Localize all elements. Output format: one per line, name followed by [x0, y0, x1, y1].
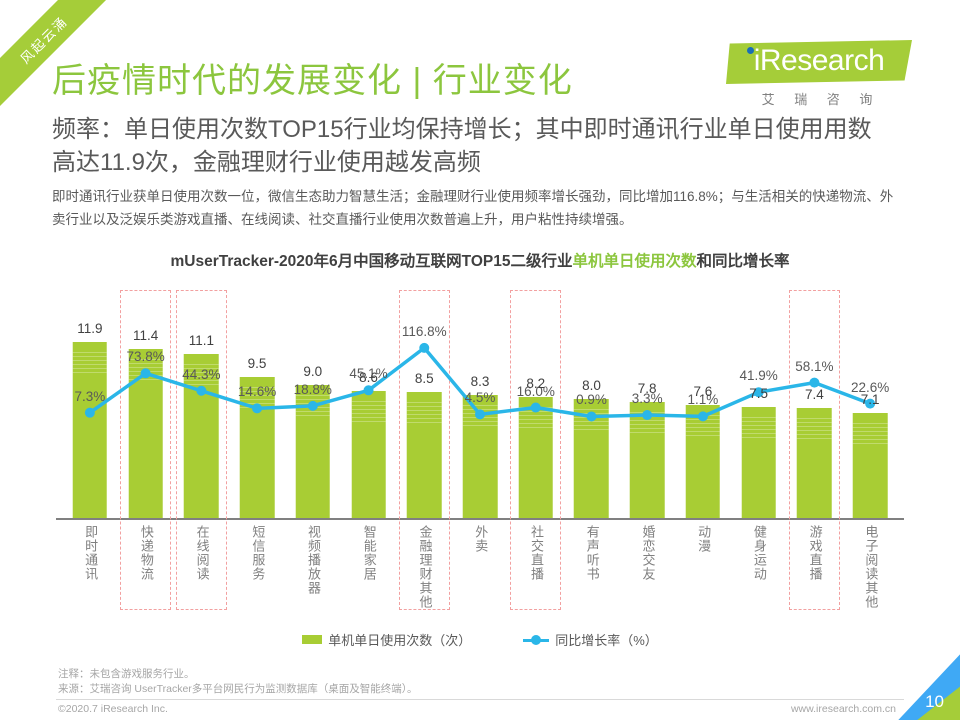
legend-bar-swatch-icon [302, 635, 322, 644]
line-point-marker [419, 343, 429, 353]
line-value-label: 18.8% [294, 382, 332, 397]
source-line: 来源：艾瑞咨询 UserTracker多平台网民行为监测数据库（桌面及智能终端）… [58, 682, 418, 697]
line-value-label: 41.9% [740, 368, 778, 383]
line-point-marker [642, 410, 652, 420]
corner-decoration [880, 652, 960, 720]
chart-title-suffix: 和同比增长率 [697, 253, 790, 270]
bar-value-label: 8.2 [526, 376, 545, 391]
line-value-label: 116.8% [402, 324, 447, 339]
bar-value-label: 9.0 [303, 364, 322, 379]
line-series [48, 285, 912, 620]
category-label-社交直播: 社交直播 [527, 525, 544, 581]
logo-subtitle: 艾 瑞 咨 询 [722, 89, 912, 108]
copyright-text: ©2020.7 iResearch Inc. [58, 703, 168, 715]
chart-plot-area: 7.3%73.8%44.3%14.6%18.8%45.1%116.8%4.5%1… [48, 285, 912, 620]
bar-value-label: 7.1 [861, 392, 880, 407]
category-label-快递物流: 快递物流 [137, 525, 154, 581]
bar-value-label: 8.0 [582, 378, 601, 393]
slide-root: 风起云涌 iResearch 艾 瑞 咨 询 后疫情时代的发展变化 | 行业变化… [0, 0, 960, 720]
line-point-marker [196, 386, 206, 396]
page-body-text: 即时通讯行业获单日使用次数一位，微信生态助力智慧生活；金融理财行业使用频率增长强… [52, 185, 904, 231]
bar-value-label: 7.6 [694, 384, 713, 399]
note-line: 注释：未包含游戏服务行业。 [58, 667, 418, 682]
category-label-婚恋交友: 婚恋交友 [639, 525, 656, 581]
line-point-marker [698, 411, 708, 421]
line-value-label: 0.9% [576, 392, 607, 407]
line-value-label: 44.3% [182, 367, 220, 382]
line-point-marker [252, 403, 262, 413]
bar-value-label: 11.9 [77, 321, 102, 336]
line-point-marker [141, 368, 151, 378]
legend-item-line[interactable]: 同比增长率（%） [523, 630, 658, 649]
page-number: 10 [925, 692, 944, 712]
line-point-marker [308, 401, 318, 411]
line-point-marker [85, 408, 95, 418]
chart-title-highlight: 单机单日使用次数 [572, 253, 696, 270]
legend-line-swatch-icon [523, 635, 549, 645]
iresearch-logo: iResearch 艾 瑞 咨 询 [722, 40, 912, 108]
legend-item-bar[interactable]: 单机单日使用次数（次） [302, 630, 471, 649]
line-value-label: 14.6% [238, 384, 276, 399]
bar-value-label: 8.3 [471, 374, 490, 389]
logo-dot-icon [747, 47, 754, 54]
line-value-label: 4.5% [465, 390, 496, 405]
category-label-有声听书: 有声听书 [583, 525, 600, 581]
chart-title-prefix: mUserTracker-2020年6月中国移动互联网TOP15二级行业 [170, 253, 572, 270]
line-point-marker [531, 403, 541, 413]
logo-mark: iResearch [726, 40, 912, 84]
bar-value-label: 7.8 [638, 381, 657, 396]
chart-notes: 注释：未包含游戏服务行业。 来源：艾瑞咨询 UserTracker多平台网民行为… [58, 667, 418, 697]
page-subtitle: 频率：单日使用次数TOP15行业均保持增长；其中即时通讯行业单日使用用数高达11… [52, 113, 892, 179]
footer-divider [56, 699, 904, 700]
category-label-电子阅读其他: 电子阅读其他 [862, 525, 879, 609]
line-point-marker [475, 409, 485, 419]
chart-title: mUserTracker-2020年6月中国移动互联网TOP15二级行业单机单日… [0, 249, 960, 271]
bar-value-label: 7.5 [749, 386, 768, 401]
bar-value-label: 8.5 [415, 371, 434, 386]
bar-value-label: 9.5 [248, 356, 267, 371]
category-label-游戏直播: 游戏直播 [806, 525, 823, 581]
line-point-marker [364, 385, 374, 395]
line-point-marker [809, 378, 819, 388]
category-label-在线阅读: 在线阅读 [193, 525, 210, 581]
category-label-视频播放器: 视频播放器 [305, 525, 322, 595]
bar-value-label: 7.4 [805, 387, 824, 402]
category-label-金融理财其他: 金融理财其他 [416, 525, 433, 609]
category-label-智能家居: 智能家居 [360, 525, 377, 581]
category-label-健身运动: 健身运动 [750, 525, 767, 581]
legend-line-label: 同比增长率（%） [555, 630, 658, 649]
page-title: 后疫情时代的发展变化 | 行业变化 [52, 53, 573, 102]
line-point-marker [586, 411, 596, 421]
category-label-动漫: 动漫 [695, 525, 712, 553]
line-value-label: 58.1% [795, 359, 833, 374]
category-label-短信服务: 短信服务 [249, 525, 266, 581]
chart-legend: 单机单日使用次数（次） 同比增长率（%） [0, 630, 960, 649]
line-value-label: 7.3% [74, 389, 105, 404]
category-label-外卖: 外卖 [472, 525, 489, 553]
bar-value-label: 8.6 [359, 370, 378, 385]
line-value-label: 73.8% [126, 349, 164, 364]
bar-value-label: 11.1 [189, 333, 214, 348]
bar-value-label: 11.4 [133, 328, 158, 343]
category-label-即时通讯: 即时通讯 [82, 525, 99, 581]
legend-bar-label: 单机单日使用次数（次） [328, 630, 471, 649]
logo-wordmark: iResearch [726, 40, 912, 84]
